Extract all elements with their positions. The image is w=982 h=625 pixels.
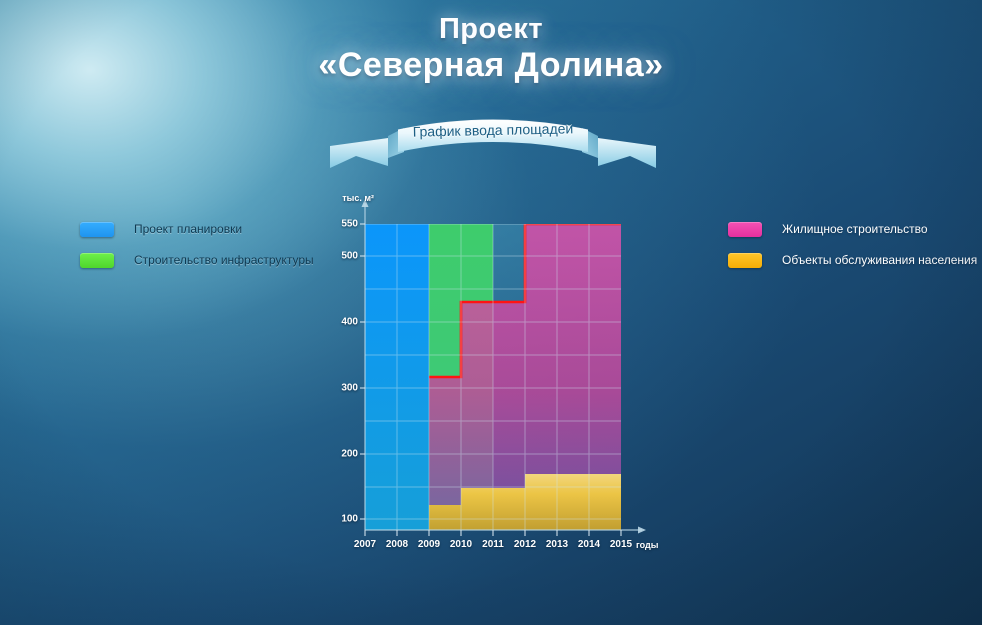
legend-item-housing[interactable]: Жилищное строительство <box>728 218 977 240</box>
page-title: Проект «Северная Долина» <box>0 14 982 84</box>
title-line-1: Проект <box>0 14 982 44</box>
y-axis-unit-label: тыс. м² <box>330 193 374 203</box>
x-axis-arrow <box>638 527 646 534</box>
y-tick-500: 500 <box>322 251 358 262</box>
y-tick-200: 200 <box>322 449 358 460</box>
x-tick-2007: 2007 <box>348 539 382 550</box>
x-tick-2008: 2008 <box>380 539 414 550</box>
y-tick-550: 550 <box>322 219 358 230</box>
x-tick-2010: 2010 <box>444 539 478 550</box>
legend-item-services[interactable]: Объекты обслуживания населения <box>728 249 977 271</box>
x-tick-2014: 2014 <box>572 539 606 550</box>
legend-label-housing: Жилищное строительство <box>782 222 928 236</box>
legend-swatch-housing <box>728 222 762 237</box>
chart-plot <box>330 185 670 545</box>
legend-swatch-planning <box>80 222 114 237</box>
x-tick-2015: 2015 <box>604 539 638 550</box>
x-tick-2009: 2009 <box>412 539 446 550</box>
x-tick-2013: 2013 <box>540 539 574 550</box>
chart-area: тыс. м² <box>330 185 670 545</box>
legend-left: Проект планировки Строительство инфрастр… <box>80 218 314 280</box>
ribbon-banner: График ввода площадей <box>326 108 660 170</box>
legend-label-infrastructure: Строительство инфраструктуры <box>134 253 314 267</box>
legend-item-infrastructure[interactable]: Строительство инфраструктуры <box>80 249 314 271</box>
legend-label-services: Объекты обслуживания населения <box>782 253 977 267</box>
legend-swatch-infrastructure <box>80 253 114 268</box>
x-axis-label: годы <box>636 540 658 550</box>
legend-item-planning[interactable]: Проект планировки <box>80 218 314 240</box>
legend-label-planning: Проект планировки <box>134 222 242 236</box>
legend-right: Жилищное строительство Объекты обслужива… <box>728 218 977 280</box>
y-tick-marks <box>360 224 365 519</box>
legend-swatch-services <box>728 253 762 268</box>
y-tick-100: 100 <box>322 514 358 525</box>
y-tick-300: 300 <box>322 383 358 394</box>
x-tick-2012: 2012 <box>508 539 542 550</box>
infographic-canvas: Проект «Северная Долина» <box>0 0 982 625</box>
title-line-2: «Северная Долина» <box>0 48 982 84</box>
x-tick-2011: 2011 <box>476 539 510 550</box>
y-tick-400: 400 <box>322 317 358 328</box>
x-tick-marks <box>365 530 621 536</box>
